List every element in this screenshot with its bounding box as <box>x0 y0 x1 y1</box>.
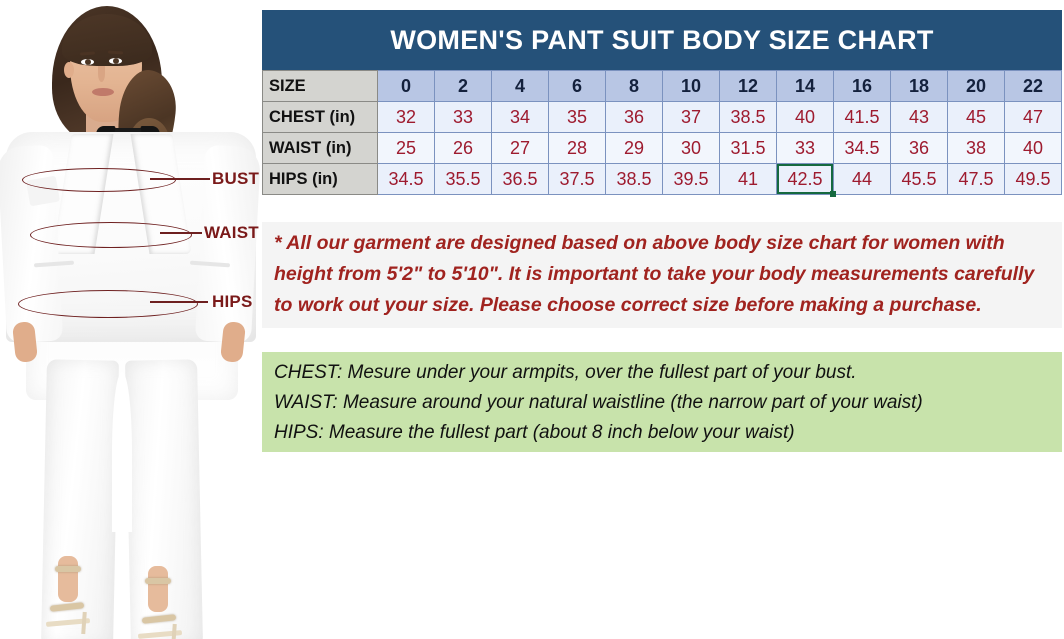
cell-chest-size-20[interactable]: 45 <box>948 102 1005 133</box>
cell-waist-size-16[interactable]: 34.5 <box>834 133 891 164</box>
size-column-header-0[interactable]: 0 <box>378 71 435 102</box>
cell-hips-size-10[interactable]: 39.5 <box>663 164 720 195</box>
cell-hips-size-0[interactable]: 34.5 <box>378 164 435 195</box>
cell-chest-size-10[interactable]: 37 <box>663 102 720 133</box>
row-label-chest: CHEST (in) <box>263 102 378 133</box>
cell-hips-size-16[interactable]: 44 <box>834 164 891 195</box>
size-note-line-2: height from 5'2" to 5'10". It is importa… <box>274 259 1052 290</box>
cell-chest-size-14[interactable]: 40 <box>777 102 834 133</box>
cell-chest-size-6[interactable]: 35 <box>549 102 606 133</box>
size-column-header-14[interactable]: 14 <box>777 71 834 102</box>
size-note-line-3: to work out your size. Please choose cor… <box>274 290 1052 321</box>
model-ear <box>64 62 74 78</box>
size-chart-page: BUST WAIST HIPS WOMEN'S PANT SUIT BODY S… <box>0 0 1064 639</box>
model-hand-left <box>12 321 38 363</box>
selected-cell[interactable]: 42.5 <box>777 164 834 195</box>
chart-pane: WOMEN'S PANT SUIT BODY SIZE CHART SIZE02… <box>262 0 1064 639</box>
cell-hips-size-4[interactable]: 36.5 <box>492 164 549 195</box>
size-column-header-20[interactable]: 20 <box>948 71 1005 102</box>
cell-hips-size-22[interactable]: 49.5 <box>1005 164 1062 195</box>
table-row: HIPS (in)34.535.536.537.538.539.54142.54… <box>263 164 1062 195</box>
model-nose <box>98 66 105 82</box>
size-column-header-18[interactable]: 18 <box>891 71 948 102</box>
cell-hips-size-6[interactable]: 37.5 <box>549 164 606 195</box>
selection-fill-handle[interactable] <box>830 191 836 197</box>
size-column-header-16[interactable]: 16 <box>834 71 891 102</box>
hips-callout-label: HIPS <box>212 292 252 312</box>
cell-waist-size-2[interactable]: 26 <box>435 133 492 164</box>
cell-waist-size-14[interactable]: 33 <box>777 133 834 164</box>
size-column-header-12[interactable]: 12 <box>720 71 777 102</box>
cell-chest-size-0[interactable]: 32 <box>378 102 435 133</box>
model-ankle-left <box>58 556 78 602</box>
bust-callout-label: BUST <box>212 169 259 189</box>
measure-guide-line-3: HIPS: Measure the fullest part (about 8 … <box>274 418 1052 448</box>
model-eye-left <box>81 59 94 65</box>
waist-callout-label: WAIST <box>204 223 259 243</box>
cell-waist-size-6[interactable]: 28 <box>549 133 606 164</box>
size-column-header-8[interactable]: 8 <box>606 71 663 102</box>
size-chart-header-row: SIZE0246810121416182022 <box>263 71 1062 102</box>
measure-guide-line-1: CHEST: Mesure under your armpits, over t… <box>274 358 1052 388</box>
model-photo-pane: BUST WAIST HIPS <box>0 0 262 639</box>
cell-waist-size-12[interactable]: 31.5 <box>720 133 777 164</box>
size-chart-table-body: SIZE0246810121416182022CHEST (in)3233343… <box>263 71 1062 195</box>
size-column-header-2[interactable]: 2 <box>435 71 492 102</box>
model-eye-right <box>109 58 122 64</box>
waist-leader-line <box>160 232 202 234</box>
measure-guide-line-2: WAIST: Measure around your natural waist… <box>274 388 1052 418</box>
cell-waist-size-8[interactable]: 29 <box>606 133 663 164</box>
model-figure: BUST WAIST HIPS <box>0 0 262 639</box>
size-column-header-6[interactable]: 6 <box>549 71 606 102</box>
cell-chest-size-2[interactable]: 33 <box>435 102 492 133</box>
bust-measure-ellipse <box>22 168 176 192</box>
cell-hips-size-8[interactable]: 38.5 <box>606 164 663 195</box>
cell-waist-size-0[interactable]: 25 <box>378 133 435 164</box>
cell-chest-size-22[interactable]: 47 <box>1005 102 1062 133</box>
chart-title: WOMEN'S PANT SUIT BODY SIZE CHART <box>262 10 1062 70</box>
cell-hips-size-18[interactable]: 45.5 <box>891 164 948 195</box>
cell-chest-size-8[interactable]: 36 <box>606 102 663 133</box>
model-pant-leg-left <box>41 359 119 639</box>
model-pant-gap <box>112 372 132 532</box>
size-note-panel: * All our garment are designed based on … <box>262 222 1062 328</box>
hips-measure-ellipse <box>18 290 198 318</box>
row-label-waist: WAIST (in) <box>263 133 378 164</box>
cell-chest-size-18[interactable]: 43 <box>891 102 948 133</box>
waist-measure-ellipse <box>30 222 192 248</box>
cell-chest-size-16[interactable]: 41.5 <box>834 102 891 133</box>
cell-chest-size-4[interactable]: 34 <box>492 102 549 133</box>
row-label-hips: HIPS (in) <box>263 164 378 195</box>
cell-waist-size-10[interactable]: 30 <box>663 133 720 164</box>
model-ankle-right <box>148 566 168 612</box>
hips-leader-line <box>150 301 208 303</box>
sandal-ankle-strap-right <box>145 578 171 584</box>
cell-hips-size-2[interactable]: 35.5 <box>435 164 492 195</box>
size-chart-table: SIZE0246810121416182022CHEST (in)3233343… <box>262 70 1062 195</box>
cell-waist-size-22[interactable]: 40 <box>1005 133 1062 164</box>
cell-waist-size-20[interactable]: 38 <box>948 133 1005 164</box>
cell-waist-size-4[interactable]: 27 <box>492 133 549 164</box>
size-column-header-4[interactable]: 4 <box>492 71 549 102</box>
model-hand-right <box>220 321 246 363</box>
bust-leader-line <box>150 178 210 180</box>
model-lips <box>92 88 114 96</box>
size-note-line-1: * All our garment are designed based on … <box>274 228 1052 259</box>
cell-hips-size-12[interactable]: 41 <box>720 164 777 195</box>
measure-guide-panel: CHEST: Mesure under your armpits, over t… <box>262 352 1062 452</box>
cell-waist-size-18[interactable]: 36 <box>891 133 948 164</box>
cell-hips-size-20[interactable]: 47.5 <box>948 164 1005 195</box>
size-column-header-10[interactable]: 10 <box>663 71 720 102</box>
sandal-ankle-strap-left <box>55 566 81 572</box>
table-row: WAIST (in)25262728293031.53334.5363840 <box>263 133 1062 164</box>
size-row-header-label: SIZE <box>263 71 378 102</box>
size-column-header-22[interactable]: 22 <box>1005 71 1062 102</box>
cell-chest-size-12[interactable]: 38.5 <box>720 102 777 133</box>
table-row: CHEST (in)32333435363738.54041.5434547 <box>263 102 1062 133</box>
